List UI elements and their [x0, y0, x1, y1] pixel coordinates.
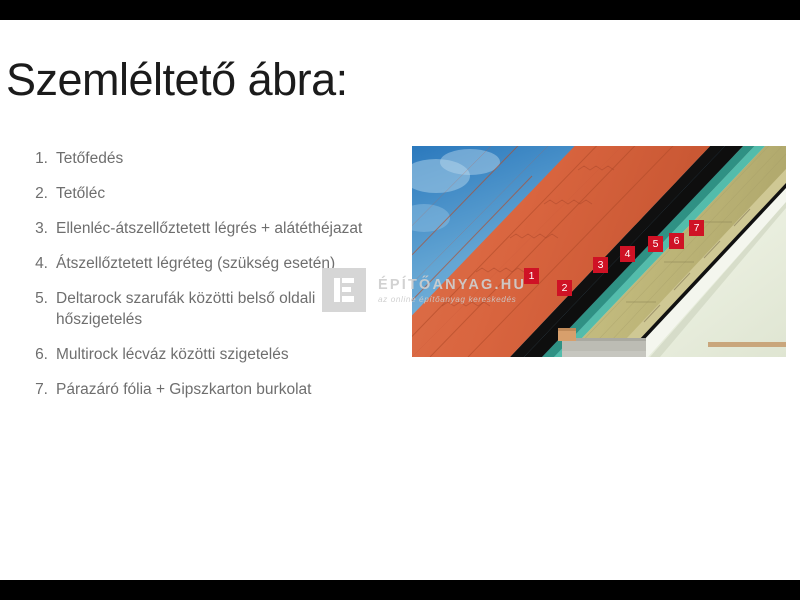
list-item-label: Deltarock szarufák közötti belső oldali … [56, 288, 392, 330]
list-item-label: Multirock lécváz közötti szigetelés [56, 344, 392, 365]
list-item-label: Ellenléc-átszellőztetett légrés + alátét… [56, 218, 392, 239]
letterbox-top-bar [0, 0, 800, 20]
slide-stage: Szemléltető ábra: 1. Tetőfedés 2. Tetőlé… [0, 0, 800, 600]
roof-diagram-svg [412, 146, 786, 357]
callout-badge-2: 2 [557, 280, 572, 296]
list-item: 4. Átszellőztetett légréteg (szükség ese… [22, 253, 392, 274]
letterbox-bottom-bar [0, 580, 800, 600]
callout-badge-4: 4 [620, 246, 635, 262]
callout-badge-5: 5 [648, 236, 663, 252]
roof-layer-list: 1. Tetőfedés 2. Tetőléc 3. Ellenléc-átsz… [22, 148, 392, 414]
list-item-number: 5. [22, 288, 56, 309]
list-item: 1. Tetőfedés [22, 148, 392, 169]
page-title: Szemléltető ábra: [6, 56, 348, 103]
list-item-label: Tetőléc [56, 183, 392, 204]
list-item: 3. Ellenléc-átszellőztetett légrés + alá… [22, 218, 392, 239]
list-item-number: 6. [22, 344, 56, 365]
list-item: 2. Tetőléc [22, 183, 392, 204]
list-item: 6. Multirock lécváz közötti szigetelés [22, 344, 392, 365]
list-item-label: Tetőfedés [56, 148, 392, 169]
callout-badge-1: 1 [524, 268, 539, 284]
list-item: 7. Párazáró fólia + Gipszkarton burkolat [22, 379, 392, 400]
list-item-number: 3. [22, 218, 56, 239]
list-item-label: Párazáró fólia + Gipszkarton burkolat [56, 379, 392, 400]
callout-badge-3: 3 [593, 257, 608, 273]
list-item-number: 2. [22, 183, 56, 204]
list-item-label: Átszellőztetett légréteg (szükség esetén… [56, 253, 392, 274]
callout-badge-6: 6 [669, 233, 684, 249]
list-item: 5. Deltarock szarufák közötti belső olda… [22, 288, 392, 330]
callout-badge-7: 7 [689, 220, 704, 236]
slide-canvas: Szemléltető ábra: 1. Tetőfedés 2. Tetőlé… [0, 20, 800, 580]
list-item-number: 7. [22, 379, 56, 400]
list-item-number: 4. [22, 253, 56, 274]
list-item-number: 1. [22, 148, 56, 169]
roof-cross-section-image: 1 2 3 4 5 6 7 [412, 146, 786, 357]
